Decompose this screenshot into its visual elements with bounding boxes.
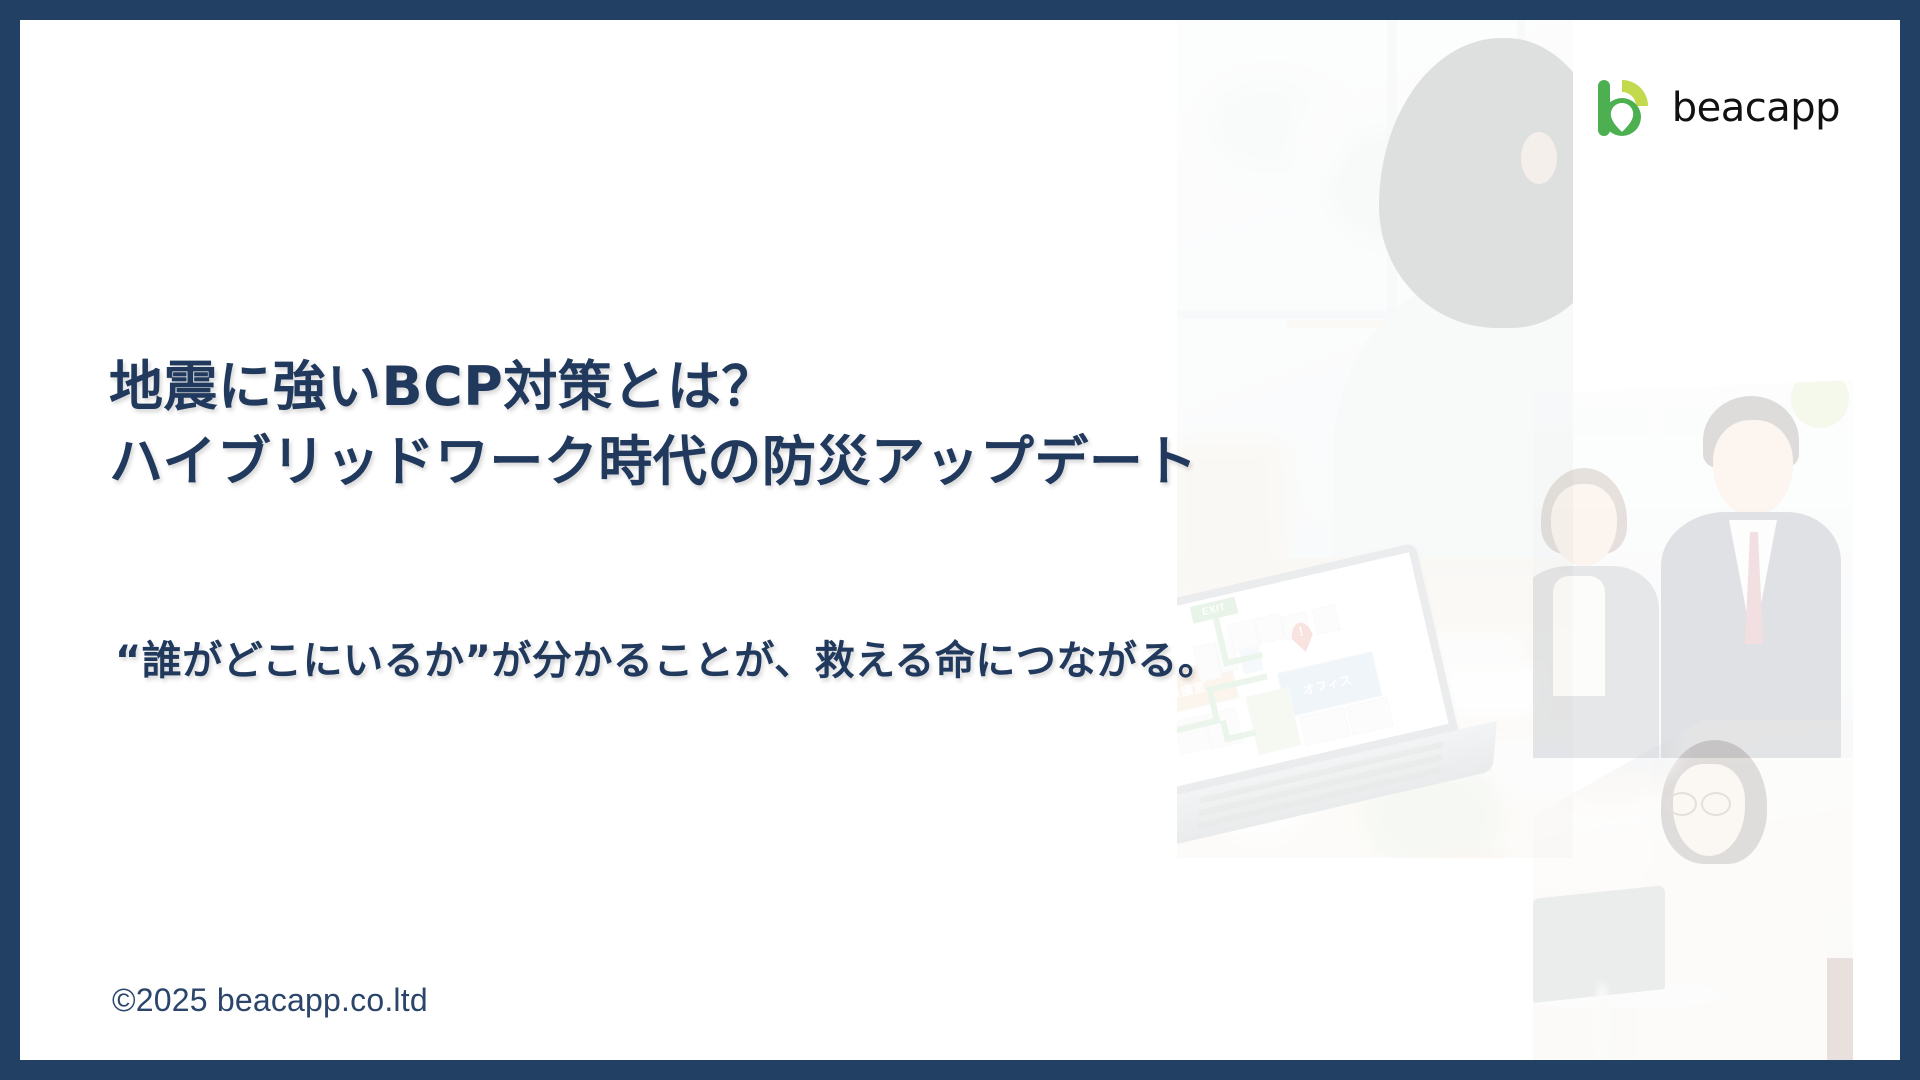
beacapp-b-pin-logo-icon <box>1592 76 1656 140</box>
photo-woman-remote-working-with-laptop <box>1533 720 1853 1060</box>
eyeglasses-icon <box>1667 792 1741 812</box>
slide-frame: EXIT 会議室 オフィス <box>0 0 1920 1080</box>
subtitle-text: “誰がどこにいるか”が分かることが、救える命につながる。 <box>115 628 1218 686</box>
cup-blur <box>1297 102 1337 172</box>
map-room <box>1346 697 1394 736</box>
man-ear <box>1521 132 1557 184</box>
headline-line-1: 地震に強いBCP対策とは？ <box>109 350 1529 425</box>
headline-line-2: ハイブリッドワーク時代の防災アップデート <box>109 425 1529 500</box>
map-location-pin <box>1288 620 1316 654</box>
beacapp-wordmark: beacapp <box>1672 85 1840 131</box>
slide-canvas: EXIT 会議室 オフィス <box>20 20 1900 1060</box>
headline-block: 地震に強いBCP対策とは？ ハイブリッドワーク時代の防災アップデート <box>109 350 1529 499</box>
copyright-text: ©2025 beacapp.co.ltd <box>112 982 428 1019</box>
background-blur-band <box>1573 406 1649 436</box>
woman-knit-sweater <box>1637 840 1827 1060</box>
map-room <box>1311 604 1340 635</box>
woman-blouse <box>1553 576 1605 696</box>
beacapp-logo: beacapp <box>1592 76 1840 140</box>
photo-two-smiling-business-people <box>1533 380 1853 758</box>
